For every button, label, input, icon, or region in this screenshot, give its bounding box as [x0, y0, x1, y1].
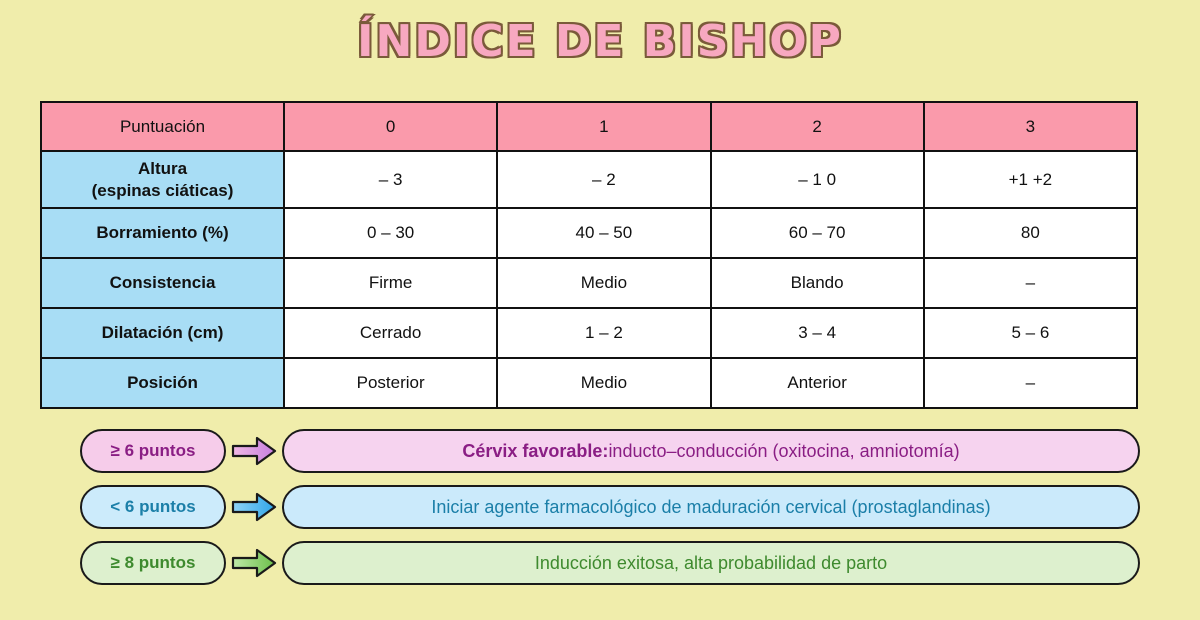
cell-altura-0: – 3 — [284, 151, 497, 208]
cell-consistencia-1: Medio — [497, 258, 710, 308]
legend-text-rest-exitosa: Inducción exitosa, alta probabilidad de … — [535, 553, 887, 574]
legend-panel-favorable: Cérvix favorable: inducto–conducción (ox… — [282, 429, 1140, 473]
cell-dilatacion-3: 5 – 6 — [924, 308, 1137, 358]
table-row: Altura (espinas ciáticas) – 3 – 2 – 1 0 … — [41, 151, 1137, 208]
legend-row-favorable: ≥ 6 puntos Cérvix favorable: inducto–con… — [80, 428, 1140, 474]
cell-consistencia-2: Blando — [711, 258, 924, 308]
cell-dilatacion-2: 3 – 4 — [711, 308, 924, 358]
row-label-borramiento: Borramiento (%) — [41, 208, 284, 258]
title-container: ÍNDICE DE BISHOP — [0, 16, 1200, 67]
interpretation-legend: ≥ 6 puntos Cérvix favorable: inducto–con… — [80, 428, 1140, 596]
column-header-puntuacion: Puntuación — [41, 102, 284, 151]
cell-dilatacion-1: 1 – 2 — [497, 308, 710, 358]
table-row: Posición Posterior Medio Anterior – — [41, 358, 1137, 408]
cell-altura-3: +1 +2 — [924, 151, 1137, 208]
score-pill-ge8: ≥ 8 puntos — [80, 541, 226, 585]
table-row: Consistencia Firme Medio Blando – — [41, 258, 1137, 308]
row-label-dilatacion: Dilatación (cm) — [41, 308, 284, 358]
row-label-posicion: Posición — [41, 358, 284, 408]
bishop-score-table: Puntuación 0 1 2 3 Altura (espinas ciáti… — [40, 101, 1138, 409]
cell-borramiento-0: 0 – 30 — [284, 208, 497, 258]
legend-text-rest-desfavorable: Iniciar agente farmacológico de maduraci… — [431, 497, 990, 518]
arrow-right-icon — [226, 547, 282, 579]
legend-panel-desfavorable: Iniciar agente farmacológico de maduraci… — [282, 485, 1140, 529]
cell-borramiento-3: 80 — [924, 208, 1137, 258]
column-header-1: 1 — [497, 102, 710, 151]
cell-posicion-0: Posterior — [284, 358, 497, 408]
column-header-2: 2 — [711, 102, 924, 151]
score-pill-lt6: < 6 puntos — [80, 485, 226, 529]
page-title: ÍNDICE DE BISHOP — [357, 16, 843, 67]
row-label-altura-line1: Altura — [42, 158, 283, 179]
legend-row-exitosa: ≥ 8 puntos Inducción exitosa, alta proba… — [80, 540, 1140, 586]
column-header-3: 3 — [924, 102, 1137, 151]
row-label-consistencia: Consistencia — [41, 258, 284, 308]
cell-altura-2: – 1 0 — [711, 151, 924, 208]
cell-posicion-2: Anterior — [711, 358, 924, 408]
legend-panel-exitosa: Inducción exitosa, alta probabilidad de … — [282, 541, 1140, 585]
legend-row-desfavorable: < 6 puntos Iniciar agente farmacológico … — [80, 484, 1140, 530]
legend-text-rest-favorable: inducto–conducción (oxitocina, amniotomí… — [608, 441, 959, 462]
arrow-right-icon — [226, 435, 282, 467]
row-label-altura-line2: (espinas ciáticas) — [42, 180, 283, 201]
cell-dilatacion-0: Cerrado — [284, 308, 497, 358]
cell-posicion-3: – — [924, 358, 1137, 408]
table-header-row: Puntuación 0 1 2 3 — [41, 102, 1137, 151]
table-row: Borramiento (%) 0 – 30 40 – 50 60 – 70 8… — [41, 208, 1137, 258]
cell-borramiento-1: 40 – 50 — [497, 208, 710, 258]
cell-borramiento-2: 60 – 70 — [711, 208, 924, 258]
cell-altura-1: – 2 — [497, 151, 710, 208]
cell-posicion-1: Medio — [497, 358, 710, 408]
legend-text-strong-favorable: Cérvix favorable: — [462, 441, 608, 462]
cell-consistencia-3: – — [924, 258, 1137, 308]
row-label-altura: Altura (espinas ciáticas) — [41, 151, 284, 208]
score-pill-ge6: ≥ 6 puntos — [80, 429, 226, 473]
table-row: Dilatación (cm) Cerrado 1 – 2 3 – 4 5 – … — [41, 308, 1137, 358]
column-header-0: 0 — [284, 102, 497, 151]
arrow-right-icon — [226, 491, 282, 523]
cell-consistencia-0: Firme — [284, 258, 497, 308]
